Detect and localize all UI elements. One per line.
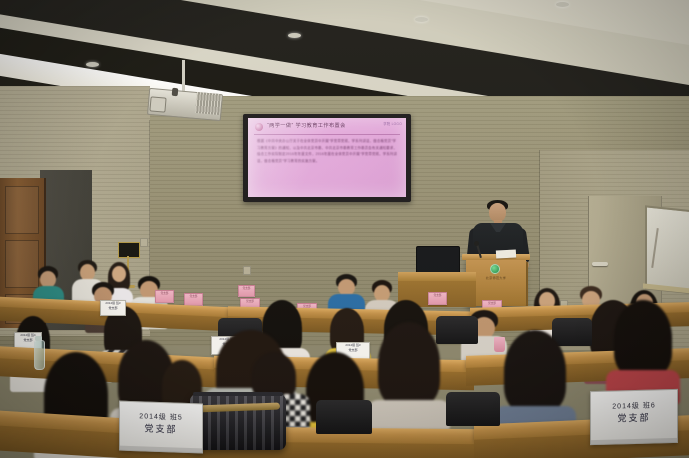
chair [446,392,500,426]
downlight-icon [288,33,301,38]
desk-monitor [416,246,460,274]
lecture-hall-photo: “两学一做” 学习教育工作布置会 学院 LOGO 根据《中共中央办公厅关于在全体… [0,0,689,458]
handbag-zipper-icon [193,392,283,396]
downlight-icon [556,2,569,7]
name-card-line2: 党支部 [120,422,202,438]
microphone-head-icon [474,241,479,246]
downlight-icon [86,62,99,67]
name-card-pink: 党支部 [238,285,255,297]
whiteboard [645,205,689,294]
name-card-text: 党支部 [241,299,259,304]
wall-outlet-icon [140,238,148,247]
name-card-small: 2014级 班3党支部 [100,300,126,316]
chair [436,316,478,344]
name-card-text: 党支部 [156,291,173,296]
pink-cup [494,337,505,352]
door-handle-icon[interactable] [592,262,608,266]
name-card-front-right: 2014级 班6 党支部 [590,389,678,445]
name-card-text: 党支部 [429,293,446,298]
water-bottle [34,340,45,370]
floor-sign-board [118,242,140,258]
podium-papers [496,249,516,258]
bottle-cap-icon [35,336,42,341]
slide-title-underline [254,134,400,135]
downlight-icon [415,17,428,22]
slide-title: “两学一做” 学习教育工作布置会 [267,122,346,131]
podium-institution-text: 北京师范大学 [472,276,520,280]
chair [552,318,592,346]
name-card-text: 党支部 [239,286,254,291]
projection-screen: “两学一做” 学习教育工作布置会 学院 LOGO 根据《中共中央办公厅关于在全体… [248,118,406,197]
slide-logo: 学院 LOGO [383,121,402,126]
name-card-pink: 党支部 [155,290,174,303]
projector-lens-icon [149,96,166,112]
card-fold-shadow [591,438,677,444]
name-card-pink: 党支部 [428,292,447,305]
name-card-text: 党支部 [185,294,202,299]
podium-emblem-icon [490,264,500,274]
slide-body-text: 根据《中共中央办公厅关于在全体党员中开展“学党章党规、学系列讲话，做合格党员”学… [257,138,399,164]
name-card-line2: 党支部 [591,411,677,426]
front-desk-top [398,272,476,281]
slide-bullet-icon [255,123,263,131]
name-card-line2: 党支部 [101,306,125,311]
name-card-pink: 党支部 [184,293,203,306]
projector-vent-icon [195,92,221,115]
chair [316,400,372,434]
door-panel [5,186,39,234]
door-panel [5,240,39,288]
name-card-text: 党支部 [483,301,501,306]
wall-outlet-icon [243,266,251,275]
projector-knob-icon [172,88,179,96]
name-card-front-left: 2014级 班5 党支部 [119,401,203,454]
